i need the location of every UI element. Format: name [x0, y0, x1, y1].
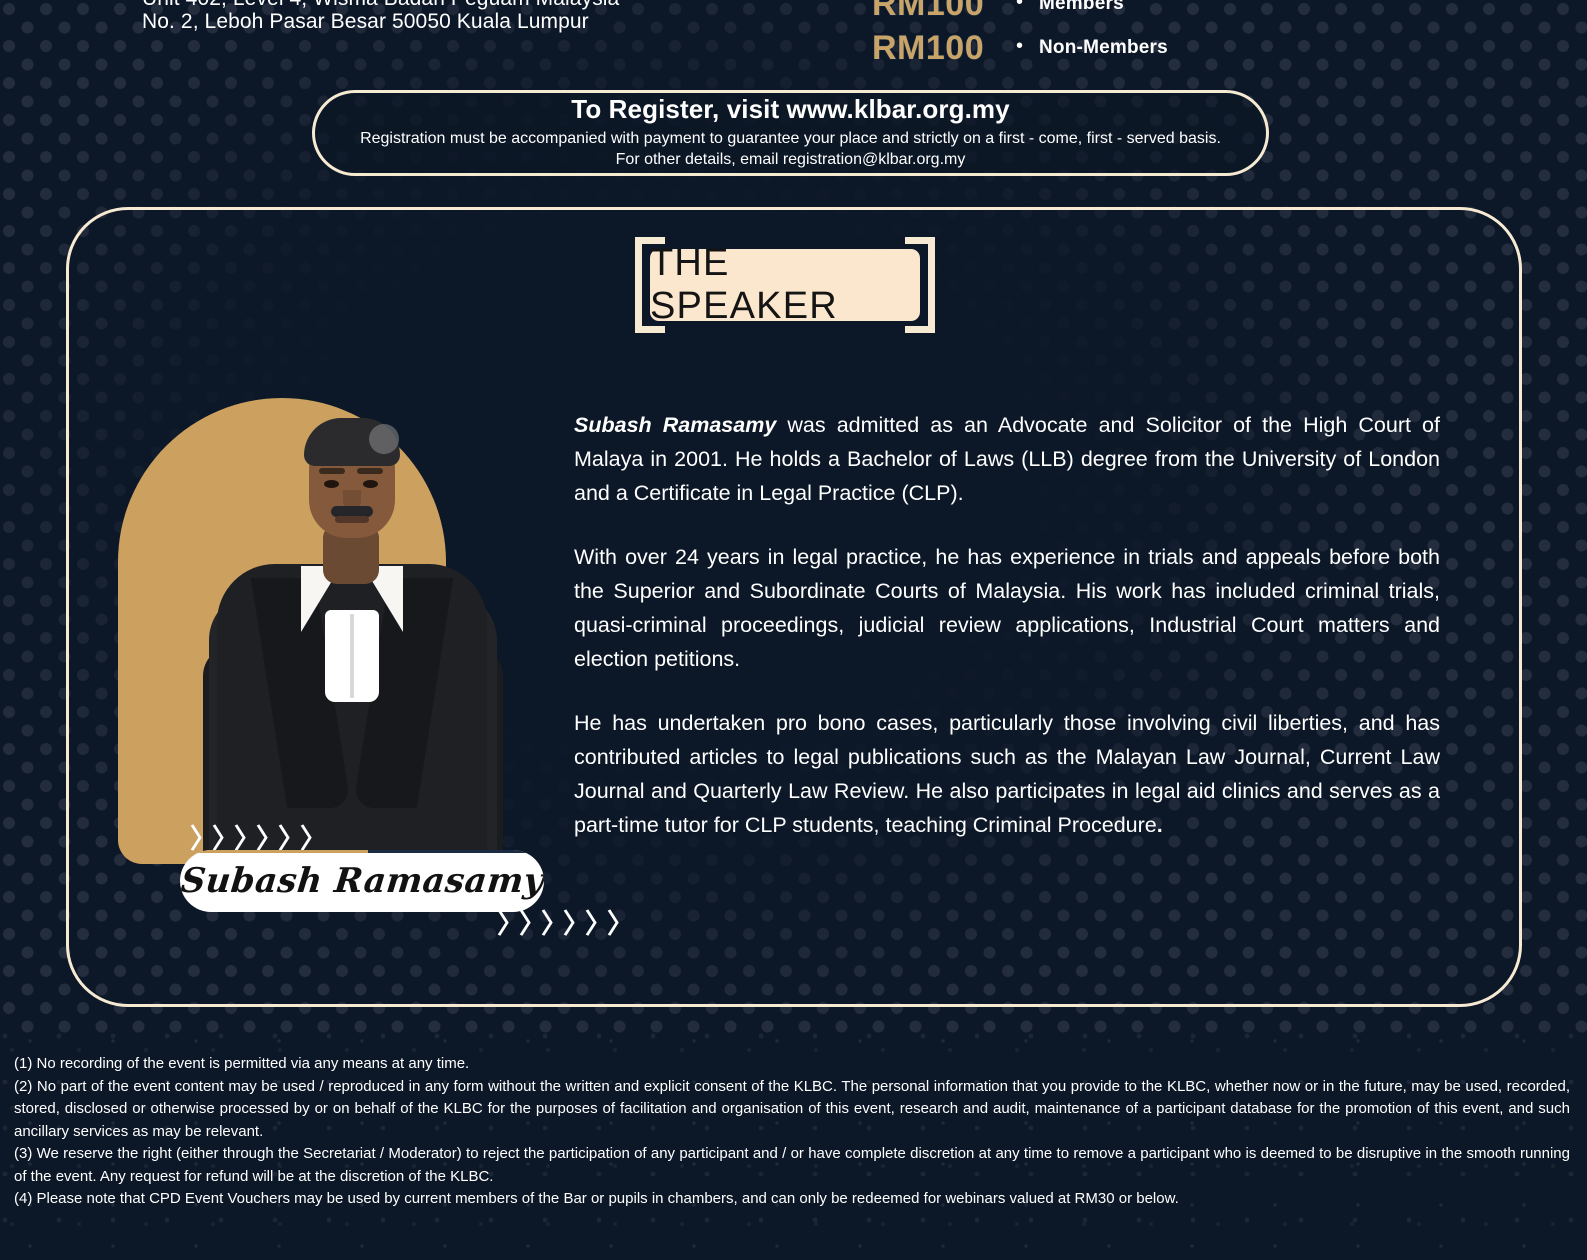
bullet-icon: •	[1016, 36, 1023, 56]
venue-address-line-2: No. 2, Leboh Pasar Besar 50050 Kuala Lum…	[142, 9, 842, 35]
bio-paragraph-3-end: .	[1157, 813, 1163, 837]
price-row-members: RM100 • Members	[872, 0, 1432, 26]
bio-paragraph-1: Subash Ramasamy was admitted as an Advoc…	[574, 408, 1440, 510]
footer-note-3: (3) We reserve the right (either through…	[14, 1143, 1570, 1188]
registration-headline[interactable]: To Register, visit www.klbar.org.my	[571, 94, 1009, 125]
registration-callout[interactable]: To Register, visit www.klbar.org.my Regi…	[312, 90, 1269, 176]
price-audience-members: Members	[1039, 0, 1124, 15]
title-plate: THE SPEAKER	[650, 249, 920, 321]
footer-note-4: (4) Please note that CPD Event Vouchers …	[14, 1188, 1570, 1211]
speaker-figure-illustration	[173, 396, 531, 866]
pricing-block: RM100 • Members RM100 • Non-Members	[872, 0, 1432, 70]
header-strip: Unit 402, Level 4, Wisma Badan Peguam Ma…	[0, 0, 1587, 86]
section-title-text: THE SPEAKER	[650, 242, 920, 328]
bio-paragraph-3-main: He has undertaken pro bono cases, partic…	[574, 711, 1440, 837]
speaker-nameplate: Subash Ramasamy	[180, 850, 544, 912]
price-row-non-members: RM100 • Non-Members	[872, 26, 1432, 70]
price-amount-non-members: RM100	[872, 29, 1000, 68]
speaker-biography: Subash Ramasamy was admitted as an Advoc…	[574, 408, 1440, 842]
price-amount-members: RM100	[872, 0, 1000, 24]
speaker-name: Subash Ramasamy	[180, 861, 544, 901]
chevron-decoration-bottom-icon: 〉〉〉〉〉〉	[497, 911, 629, 938]
price-audience-non-members: Non-Members	[1039, 37, 1168, 59]
footer-note-1: (1) No recording of the event is permitt…	[14, 1053, 1570, 1076]
chevron-decoration-top-icon: 〉〉〉〉〉〉	[190, 826, 322, 853]
bio-speaker-name: Subash Ramasamy	[574, 413, 776, 437]
the-speaker-title: THE SPEAKER	[635, 237, 935, 333]
speaker-portrait	[118, 398, 446, 864]
registration-note-line-1: Registration must be accompanied with pa…	[360, 128, 1221, 149]
bullet-icon: •	[1016, 0, 1023, 12]
terms-and-conditions: (1) No recording of the event is permitt…	[14, 1053, 1570, 1211]
bio-paragraph-2: With over 24 years in legal practice, he…	[574, 540, 1440, 676]
bio-paragraph-3: He has undertaken pro bono cases, partic…	[574, 706, 1440, 842]
footer-note-2: (2) No part of the event content may be …	[14, 1076, 1570, 1144]
registration-note-line-2: For other details, email registration@kl…	[616, 149, 966, 170]
speaker-photo	[173, 396, 531, 866]
